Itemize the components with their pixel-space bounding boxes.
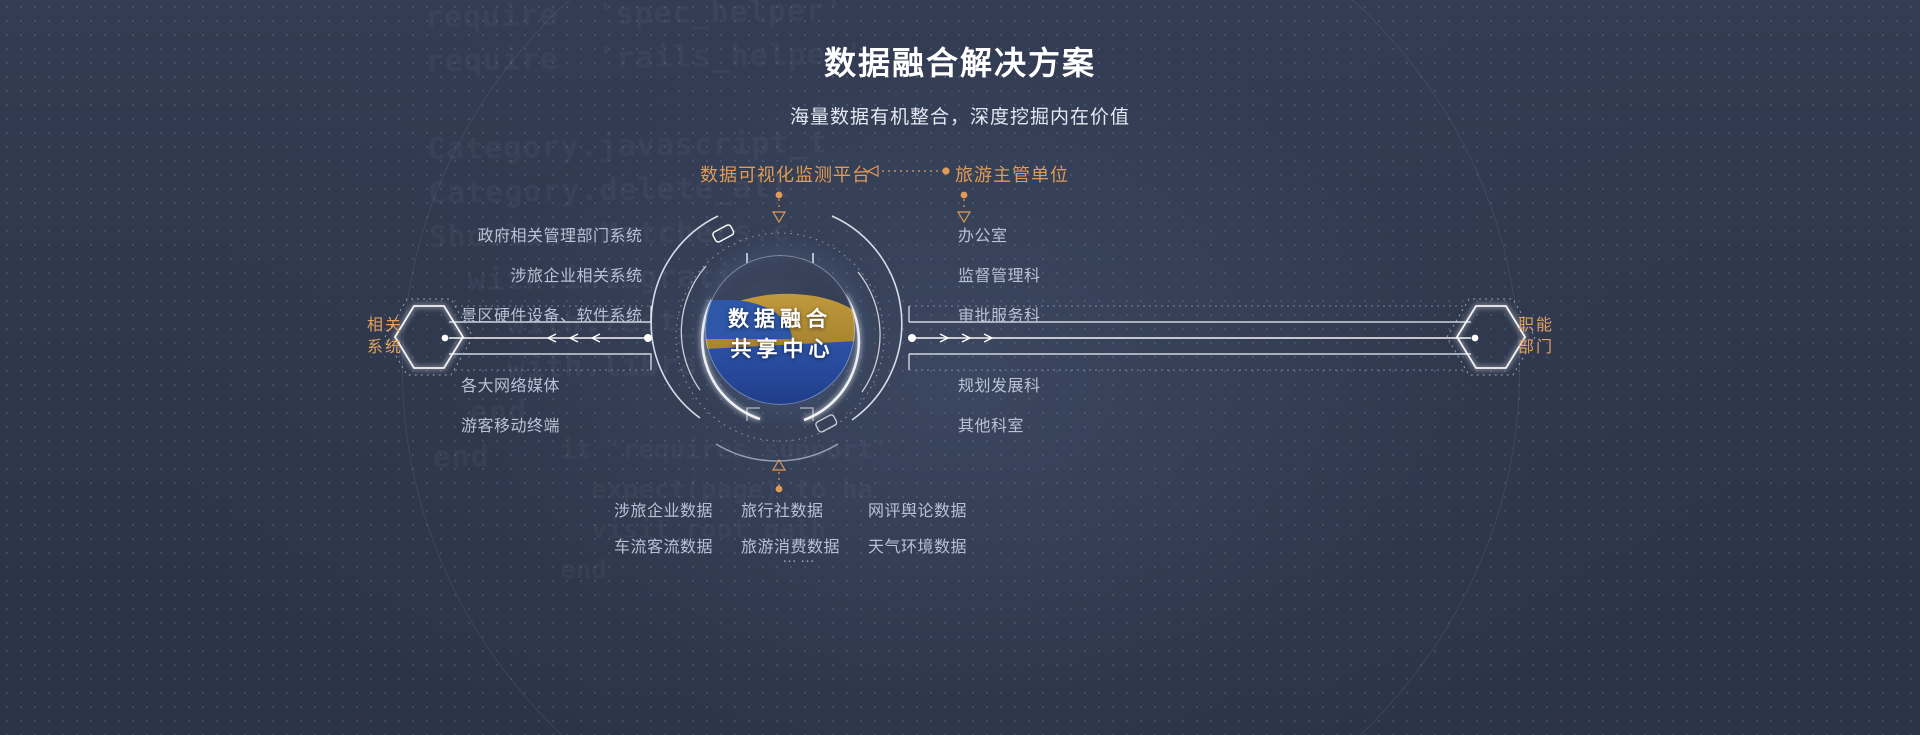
hexagon-right-line2: 部门 <box>1518 337 1554 359</box>
list-item: 涉旅企业相关系统 <box>461 263 643 291</box>
page-subtitle: 海量数据有机整合，深度挖掘内在价值 <box>0 102 1920 129</box>
hexagon-related-systems[interactable]: 相关 系统 <box>333 281 437 393</box>
table-cell: 网评舆论数据 <box>854 491 981 527</box>
table-cell: 涉旅企业数据 <box>600 491 727 527</box>
data-sphere-icon <box>705 255 855 405</box>
header: 数据融合解决方案 海量数据有机整合，深度挖掘内在价值 <box>0 0 1920 129</box>
label-visualization-platform[interactable]: 数据可视化监测平台 <box>700 161 871 187</box>
right-bottom-department-list: 规划发展科 其他科室 <box>958 373 1041 453</box>
hexagon-right-label: 职能 部门 <box>1484 281 1588 393</box>
page-title: 数据融合解决方案 <box>0 38 1920 84</box>
list-item: 规划发展科 <box>958 373 1041 401</box>
center-hub[interactable]: 数据融合 共享中心 <box>660 185 900 485</box>
hexagon-right-line1: 职能 <box>1518 315 1554 337</box>
hexagon-left-line1: 相关 <box>367 315 403 337</box>
hexagon-functional-departments[interactable]: 职能 部门 <box>1484 281 1588 393</box>
label-tourism-authority[interactable]: 旅游主管单位 <box>955 161 1069 187</box>
table-row: 涉旅企业数据 旅行社数据 网评舆论数据 <box>600 491 981 527</box>
left-bottom-source-list: 各大网络媒体 游客移动终端 <box>461 373 560 453</box>
list-item: 游客移动终端 <box>461 413 560 441</box>
list-item: 政府相关管理部门系统 <box>461 223 643 251</box>
sphere-edge-ring <box>705 255 855 405</box>
right-top-department-list: 办公室 监督管理科 审批服务科 <box>958 223 1041 343</box>
list-item: 其他科室 <box>958 413 1041 441</box>
bottom-data-ellipsis: …… <box>600 549 1000 566</box>
hexagon-left-line2: 系统 <box>367 337 403 359</box>
left-top-source-list: 政府相关管理部门系统 涉旅企业相关系统 景区硬件设备、软件系统 <box>461 223 643 343</box>
infographic-canvas: require 'spec_helper' require 'rails_hel… <box>0 0 1920 735</box>
list-item: 景区硬件设备、软件系统 <box>461 303 643 331</box>
list-item: 监督管理科 <box>958 263 1041 291</box>
table-cell: 旅行社数据 <box>727 491 854 527</box>
list-item: 各大网络媒体 <box>461 373 560 401</box>
list-item: 审批服务科 <box>958 303 1041 331</box>
list-item: 办公室 <box>958 223 1041 251</box>
hexagon-left-label: 相关 系统 <box>333 281 437 393</box>
